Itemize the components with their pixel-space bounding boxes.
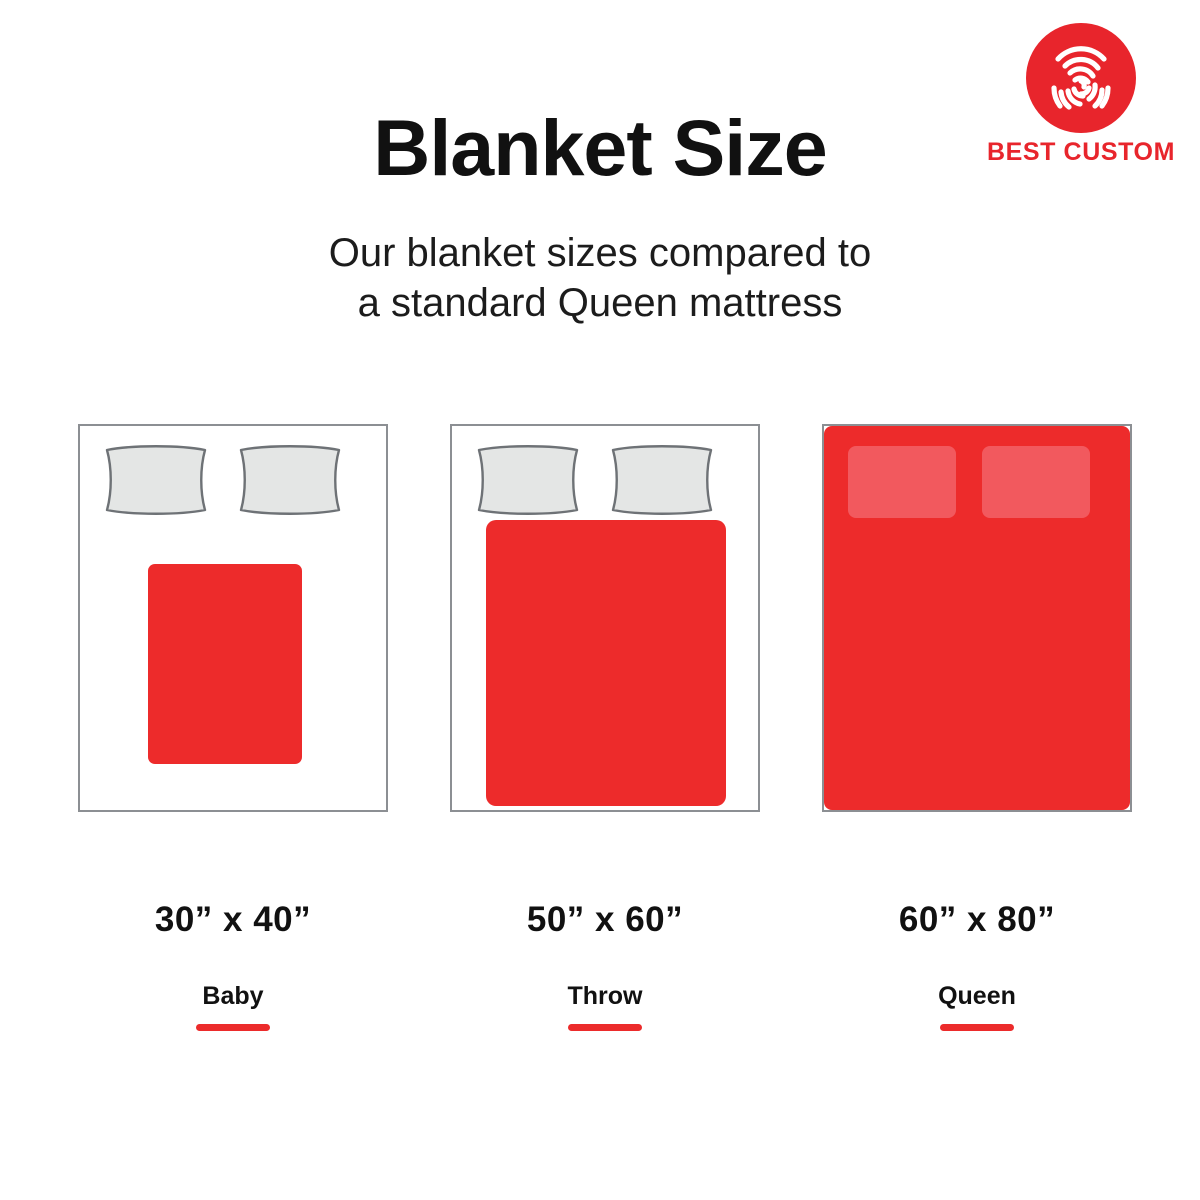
accent-rule — [568, 1024, 642, 1031]
size-name-label: Baby — [78, 982, 388, 1010]
pillow-icon — [102, 444, 210, 516]
accent-rule — [940, 1024, 1014, 1031]
caption-baby: 30” x 40” Baby — [78, 900, 388, 1031]
bed-diagram-throw — [450, 424, 760, 812]
size-name-label: Queen — [822, 982, 1132, 1010]
pillow-icon — [608, 444, 716, 516]
pillow-icon — [236, 444, 344, 516]
dimension-label: 30” x 40” — [78, 900, 388, 940]
bed-comparison-row — [0, 424, 1200, 814]
bed-diagram-queen — [822, 424, 1132, 812]
size-name-label: Throw — [450, 982, 760, 1010]
page-title: Blanket Size — [0, 104, 1200, 192]
pillow-icon — [848, 446, 956, 518]
caption-row: 30” x 40” Baby 50” x 60” Throw 60” x 80”… — [0, 900, 1200, 1040]
blanket-queen — [824, 426, 1130, 810]
blanket-baby — [148, 564, 302, 764]
accent-rule — [196, 1024, 270, 1031]
blanket-throw — [486, 520, 726, 806]
bed-diagram-baby — [78, 424, 388, 812]
subtitle-line-1: Our blanket sizes compared to — [0, 228, 1200, 278]
pillow-icon — [474, 444, 582, 516]
subtitle-line-2: a standard Queen mattress — [0, 278, 1200, 328]
dimension-label: 60” x 80” — [822, 900, 1132, 940]
dimension-label: 50” x 60” — [450, 900, 760, 940]
caption-queen: 60” x 80” Queen — [822, 900, 1132, 1031]
caption-throw: 50” x 60” Throw — [450, 900, 760, 1031]
page-subtitle: Our blanket sizes compared to a standard… — [0, 228, 1200, 328]
blanket-size-infographic: BEST CUSTOM Blanket Size Our blanket siz… — [0, 0, 1200, 1200]
pillow-icon — [982, 446, 1090, 518]
